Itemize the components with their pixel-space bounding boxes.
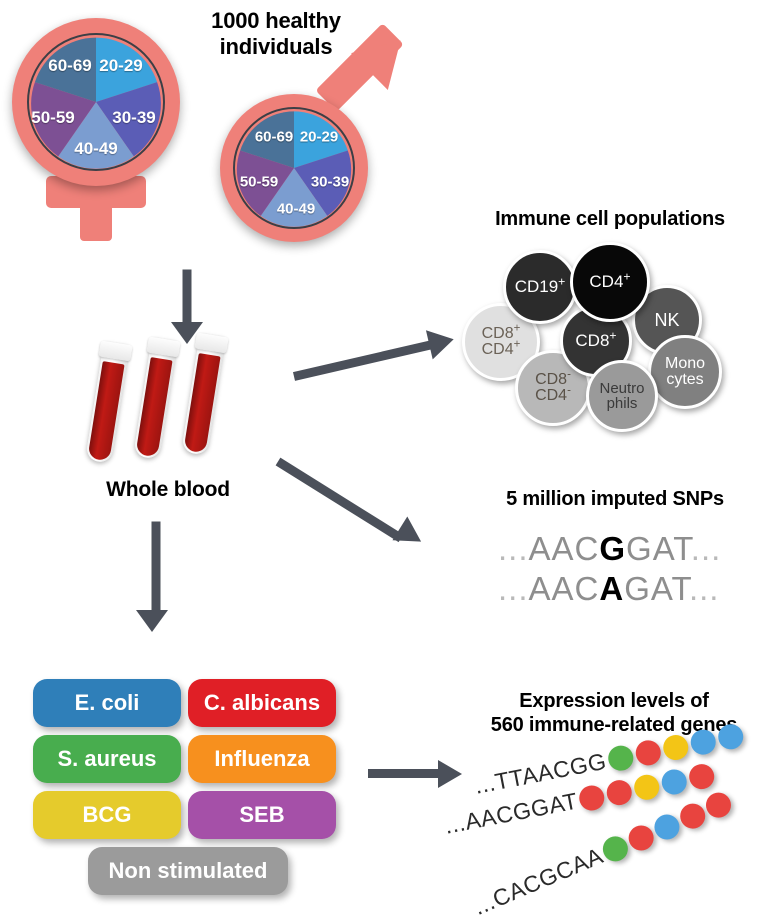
female-pie-label-20-29: 20-29 [99,56,142,76]
expression-bead [632,773,661,802]
female-pie-label-60-69: 60-69 [48,56,91,76]
immune-cell-label: CD8+CD4+ [482,326,521,359]
stimulus-pill-influenza[interactable]: Influenza [188,735,336,783]
arrow-head [136,610,168,632]
expression-bead [702,789,735,822]
male-pie-label-30-39: 30-39 [311,174,349,191]
immune-cell-cd4: CD4+ [570,242,650,322]
expression-bead [605,778,634,807]
snp-variant: G [599,530,626,567]
stimulus-pill-non-stimulated[interactable]: Non stimulated [88,847,288,895]
expression-bead [659,767,688,796]
female-pie-label-50-59: 50-59 [31,108,74,128]
snp-sequence-row: ...AACGGAT... [498,530,721,568]
arrow-shaft [152,522,161,618]
arrow-shaft [276,458,404,542]
snp-prefix: ... [498,530,529,567]
expression-bead [687,762,716,791]
snp-right: GAT [626,530,691,567]
female-pie-label-40-49: 40-49 [74,139,117,159]
expression-bead [716,722,745,751]
stimulus-pill-s-aureus[interactable]: S. aureus [33,735,181,783]
immune-cell-label: CD19+ [515,278,566,295]
male-gender-symbol: 20-29 30-39 40-49 50-59 60-69 [206,34,436,254]
expression-heading-line1: Expression levels of [458,690,770,714]
snp-variant: A [599,570,624,607]
expression-bead [661,733,690,762]
stimulus-pill-e-coli[interactable]: E. coli [33,679,181,727]
immune-cell-label: NK [654,311,679,329]
snp-sequence-row: ...AACAGAT... [498,570,719,608]
female-pie-label-30-39: 30-39 [112,108,155,128]
male-pie-label-40-49: 40-49 [277,201,315,218]
expression-bead [577,783,606,812]
immune-cell-label: Monocytes [665,356,705,389]
snp-prefix: ... [498,570,529,607]
immune-cell-cluster: CD19+ CD4+ NK CD8+CD4+ CD8+ Monocytes CD… [460,240,760,420]
expression-bead [606,744,635,773]
expression-strands: ...TTAACGG ...AACGGAT ...CACGCAA [455,745,771,915]
snp-suffix: ... [691,530,722,567]
female-gender-symbol: 20-29 30-39 40-49 50-59 60-69 [8,18,188,243]
immune-cell-monocytes: Monocytes [648,335,722,409]
cohort-title-line1: 1000 healthy [176,8,376,34]
stimulus-pill-seb[interactable]: SEB [188,791,336,839]
snp-left: AAC [529,570,600,607]
immune-heading: Immune cell populations [455,208,765,232]
arrow-shaft [183,270,192,330]
stimulus-pill-c-albicans[interactable]: C. albicans [188,679,336,727]
expression-sequence: ...AACGGAT [442,788,580,840]
immune-cell-cd19: CD19+ [503,250,577,324]
immune-cell-label: Neutrophils [599,381,644,412]
immune-cell-label: CD4+ [589,273,630,290]
arrow-head [392,517,428,554]
stimulus-pill-bcg[interactable]: BCG [33,791,181,839]
snp-suffix: ... [689,570,720,607]
expression-sequence: ...CACGCAA [470,842,608,921]
immune-cell-neutrophils: Neutrophils [586,360,658,432]
male-pie-label-60-69: 60-69 [255,129,293,146]
expression-bead [650,811,683,844]
expression-bead [625,822,658,855]
immune-cell-label: CD8-CD4- [535,372,571,405]
expression-bead [688,728,717,757]
expression-bead [676,800,709,833]
arrow-shaft [293,339,436,380]
arrow-head [426,325,457,360]
snp-left: AAC [529,530,600,567]
expression-bead [633,738,662,767]
whole-blood-label: Whole blood [78,478,258,503]
snp-right: GAT [624,570,689,607]
whole-blood-tubes [98,335,268,475]
male-pie-label-50-59: 50-59 [240,174,278,191]
male-pie-label-20-29: 20-29 [300,129,338,146]
immune-cell-label: CD8+ [575,332,616,349]
snps-heading: 5 million imputed SNPs [470,488,760,512]
arrow-shaft [368,769,440,778]
figure-canvas: 1000 healthy individuals 20-29 30-39 40-… [0,0,771,922]
